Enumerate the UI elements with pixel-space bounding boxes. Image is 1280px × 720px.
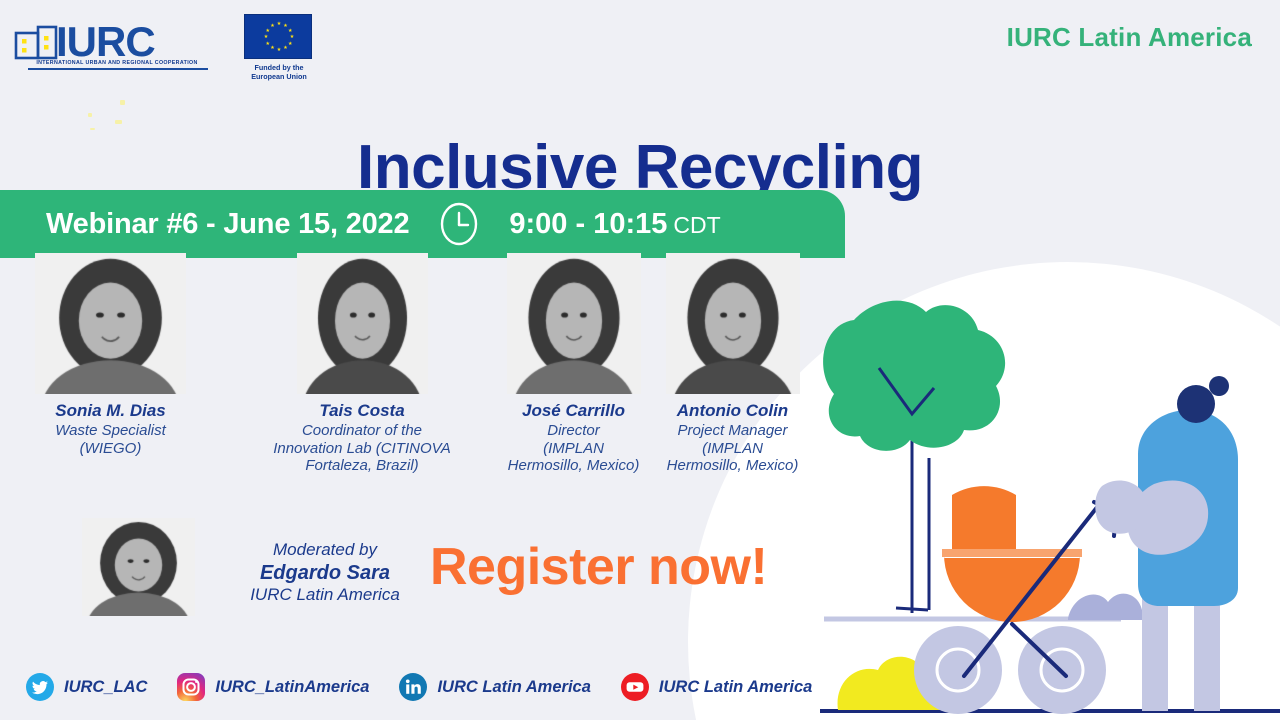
eu-star-icon: ★ (290, 35, 294, 39)
webinar-timezone: CDT (673, 212, 720, 238)
eu-star-icon: ★ (283, 46, 287, 50)
avatar (82, 518, 195, 616)
clock-icon (437, 202, 481, 246)
eu-star-icon: ★ (288, 42, 292, 46)
speaker-card: José Carrillo Director (IMPLAN Hermosill… (486, 253, 661, 475)
speaker-role: Coordinator of the Innovation Lab (CITIN… (262, 422, 462, 475)
webinar-poster: IURC INTERNATIONAL URBAN AND REGIONAL CO… (0, 0, 1280, 720)
decor-speck (120, 100, 125, 105)
speaker-role: Director (IMPLAN Hermosillo, Mexico) (486, 422, 661, 475)
speaker-card: Tais Costa Coordinator of the Innovation… (262, 253, 462, 475)
social-handle: IURC_LAC (64, 678, 147, 697)
avatar (297, 253, 428, 394)
register-now-cta[interactable]: Register now! (430, 537, 767, 597)
decor-speck (115, 120, 122, 124)
webinar-time: 9:00 - 10:15CDT (509, 208, 720, 241)
header-brand-title: IURC Latin America (1007, 22, 1252, 53)
eu-star-icon: ★ (283, 24, 287, 28)
iurc-logo-mark: IURC (14, 16, 209, 60)
iurc-logo: IURC INTERNATIONAL URBAN AND REGIONAL CO… (14, 16, 209, 76)
speaker-card: Sonia M. Dias Waste Specialist (WIEGO) (18, 253, 203, 457)
social-handle: IURC Latin America (659, 678, 812, 697)
lavender-mound (1068, 594, 1146, 620)
youtube-icon (621, 673, 649, 701)
svg-text:IURC: IURC (56, 18, 155, 60)
eu-star-icon: ★ (270, 24, 274, 28)
eu-star-icon: ★ (264, 35, 268, 39)
instagram-icon (177, 673, 205, 701)
eu-star-icon: ★ (266, 42, 270, 46)
iurc-logo-subtitle: INTERNATIONAL URBAN AND REGIONAL COOPERA… (32, 60, 202, 66)
eu-funding-badge: ★★★★★★★★★★★★ Funded by the European Unio… (244, 14, 314, 80)
speaker-name: Antonio Colin (645, 401, 820, 421)
eu-star-icon: ★ (277, 48, 281, 52)
speaker-name: Tais Costa (262, 401, 462, 421)
linkedin-icon (399, 673, 427, 701)
eu-star-icon: ★ (288, 29, 292, 33)
eu-star-icon: ★ (277, 22, 281, 26)
social-handle: IURC_LatinAmerica (215, 678, 369, 697)
head-dot-small (1209, 376, 1229, 396)
speaker-name: Sonia M. Dias (18, 401, 203, 421)
park-illustration (816, 258, 1280, 720)
social-handle: IURC Latin America (437, 678, 590, 697)
avatar (35, 253, 186, 394)
moderator-text: Moderated by Edgardo Sara IURC Latin Ame… (210, 540, 440, 606)
eu-flag-icon: ★★★★★★★★★★★★ (244, 14, 312, 59)
avatar (666, 253, 800, 394)
speaker-role: Project Manager (IMPLAN Hermosillo, Mexi… (645, 422, 820, 475)
moderator-organization: IURC Latin America (210, 585, 440, 606)
speaker-list: Sonia M. Dias Waste Specialist (WIEGO) T… (0, 253, 820, 493)
eu-star-icon: ★ (266, 29, 270, 33)
webinar-banner: Webinar #6 - June 15, 2022 9:00 - 10:15C… (0, 190, 845, 258)
pram-wheels (914, 626, 1106, 714)
logo-divider (28, 68, 208, 70)
social-link-instagram[interactable]: IURC_LatinAmerica (177, 673, 369, 701)
moderator-name: Edgardo Sara (210, 561, 440, 585)
decor-speck (90, 128, 95, 130)
social-link-linkedin[interactable]: IURC Latin America (399, 673, 590, 701)
eu-caption: Funded by the European Union (244, 63, 314, 81)
social-link-twitter[interactable]: IURC_LAC (26, 673, 147, 701)
social-link-youtube[interactable]: IURC Latin America (621, 673, 812, 701)
avatar (507, 253, 641, 394)
decor-speck (88, 113, 92, 117)
head-dot-large (1177, 385, 1215, 423)
eu-star-icon: ★ (270, 46, 274, 50)
webinar-time-range: 9:00 - 10:15 (509, 208, 667, 240)
moderator-block: Moderated by Edgardo Sara IURC Latin Ame… (82, 518, 195, 616)
moderator-prefix: Moderated by (210, 540, 440, 561)
twitter-icon (26, 673, 54, 701)
tree-canopy (823, 301, 1005, 451)
speaker-card: Antonio Colin Project Manager (IMPLAN He… (645, 253, 820, 475)
speaker-role: Waste Specialist (WIEGO) (18, 422, 203, 457)
person (1095, 376, 1238, 711)
webinar-date-label: Webinar #6 - June 15, 2022 (46, 208, 409, 241)
speaker-name: José Carrillo (486, 401, 661, 421)
social-bar: IURC_LAC IURC_LatinAmerica (26, 670, 842, 704)
